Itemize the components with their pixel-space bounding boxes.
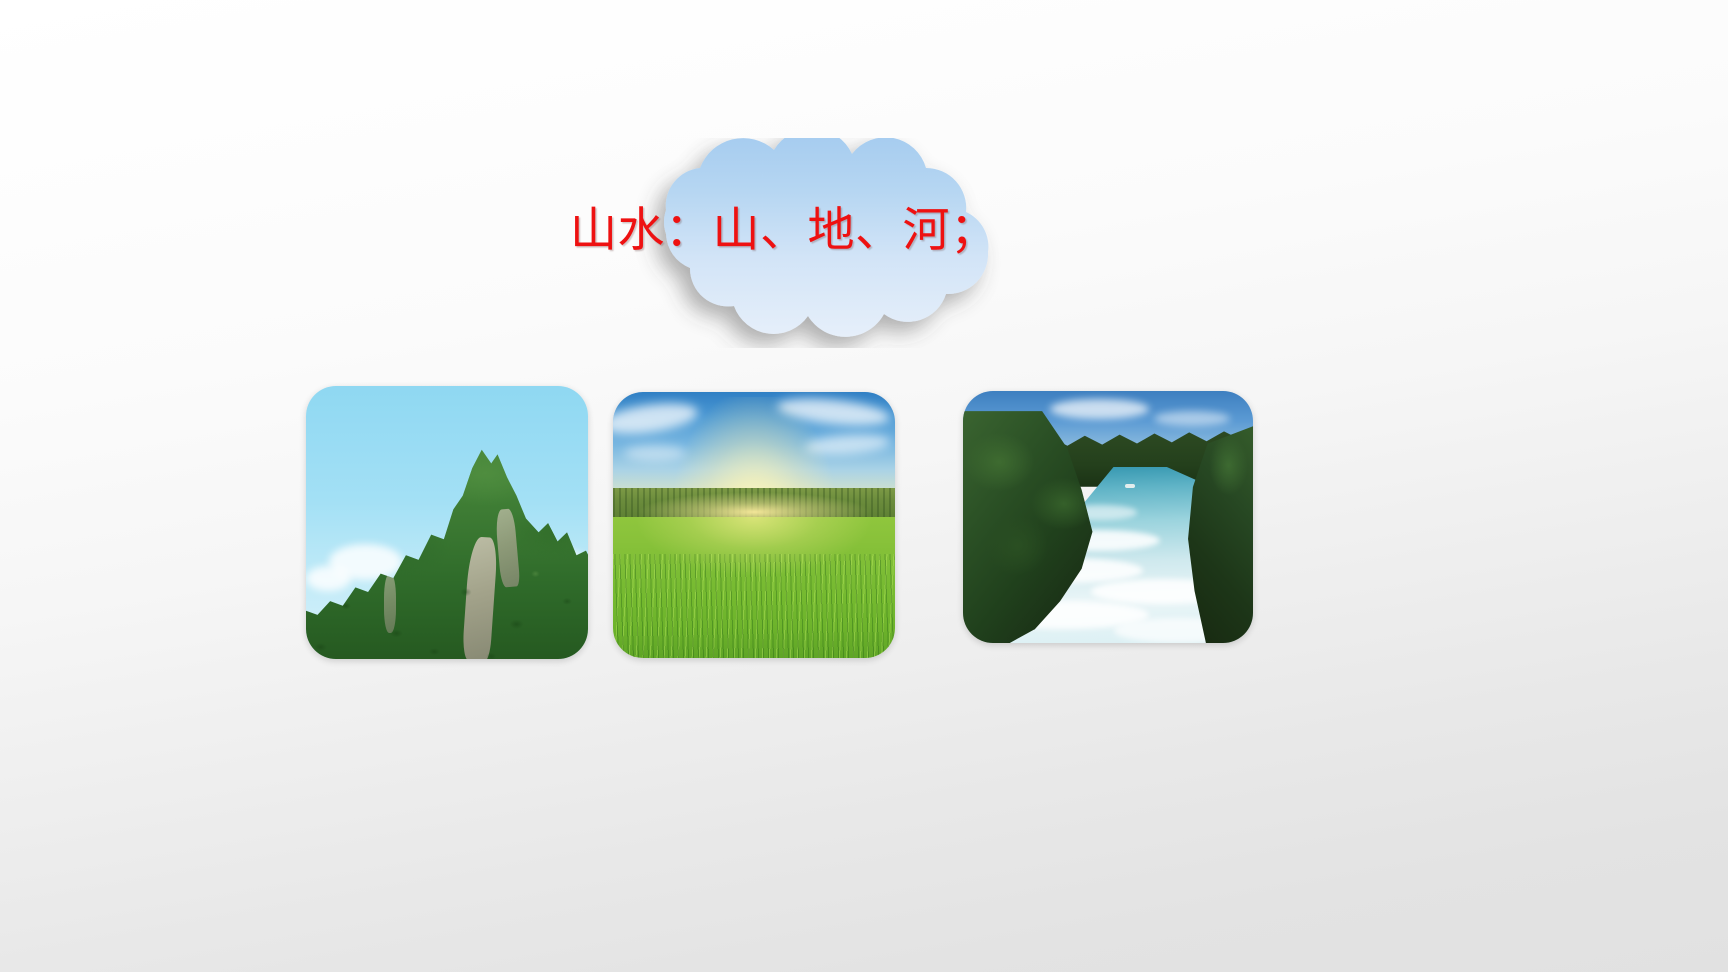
river-boat xyxy=(1125,484,1135,488)
slide-canvas: 山水：山、地、河； xyxy=(0,0,1728,972)
photo-field-image xyxy=(613,392,895,658)
photo-card-river[interactable] xyxy=(963,391,1253,643)
mountain-rock-face xyxy=(384,574,397,634)
mountain-rock-face xyxy=(494,509,520,588)
photo-card-field[interactable] xyxy=(613,392,895,658)
callout-text: 山水：山、地、河； xyxy=(570,196,1022,266)
photo-mountain-image xyxy=(306,386,588,659)
field-treeline xyxy=(613,488,895,520)
river-sky-cloud xyxy=(1050,399,1149,419)
cloud-callout-shape[interactable]: 山水：山、地、河； xyxy=(548,138,1038,348)
field-grass xyxy=(613,517,895,658)
photo-card-mountain[interactable] xyxy=(306,386,588,659)
mountain-cloud-puff xyxy=(306,566,351,591)
mountain-rock-face xyxy=(462,536,499,659)
photo-river-image xyxy=(963,391,1253,643)
